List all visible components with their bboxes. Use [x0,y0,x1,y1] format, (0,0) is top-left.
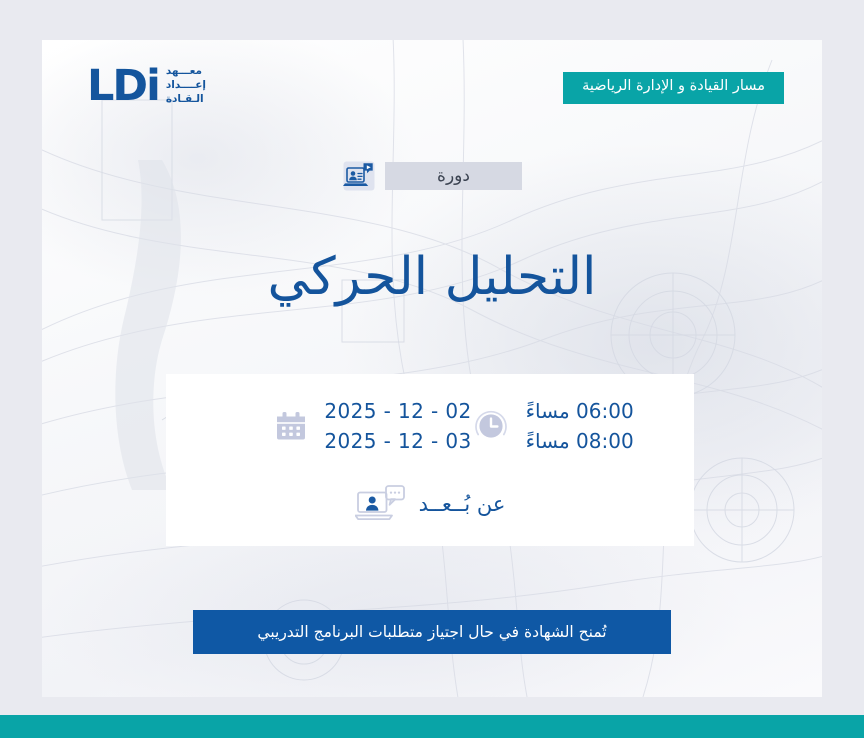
delivery-mode-row: عن بُــعــد [355,484,506,524]
date-end: 2025 - 12 - 03 [324,426,471,456]
clock-icon [472,407,510,445]
bottom-accent-strip [0,715,864,738]
course-title: التحليل الحركي [42,245,822,310]
course-info-card: 06:00 مساءً 08:00 مساءً 2025 - 12 [166,374,694,546]
dates-list: 2025 - 12 - 02 2025 - 12 - 03 [324,396,471,456]
certificate-note-banner: تُمنح الشهادة في حال اجتياز متطلبات البر… [193,610,671,654]
background-wash [42,40,822,697]
schedule-row: 06:00 مساءً 08:00 مساءً 2025 - 12 [166,396,694,456]
logo-mark: LDi [87,65,159,108]
webinar-presentation-icon [342,160,376,192]
poster-stage: LDi معـــهد إعــــداد الـقـادة مسار القي… [0,0,864,738]
course-type-pill: دورة [385,162,522,190]
date-start: 2025 - 12 - 02 [324,396,471,426]
course-card: LDi معـــهد إعــــداد الـقـادة مسار القي… [42,40,822,697]
calendar-icon [274,409,308,443]
logo-word-line-3: الـقـادة [166,93,204,107]
times-list: 06:00 مساءً 08:00 مساءً [526,396,634,456]
brand-logo: LDi معـــهد إعــــداد الـقـادة [87,65,206,109]
logo-wordmark: معـــهد إعــــداد الـقـادة [166,65,206,109]
track-badge: مسار القيادة و الإدارة الرياضية [563,72,784,104]
delivery-mode-label: عن بُــعــد [419,492,506,516]
laptop-remote-icon [355,484,405,524]
time-end: 08:00 مساءً [526,426,634,456]
dates-group: 2025 - 12 - 02 2025 - 12 - 03 [274,396,471,456]
course-type-row: دورة [42,160,822,192]
logo-word-line-1: معـــهد [166,65,202,79]
time-start: 06:00 مساءً [526,396,634,426]
times-group: 06:00 مساءً 08:00 مساءً [472,396,634,456]
logo-word-line-2: إعــــداد [166,79,206,93]
